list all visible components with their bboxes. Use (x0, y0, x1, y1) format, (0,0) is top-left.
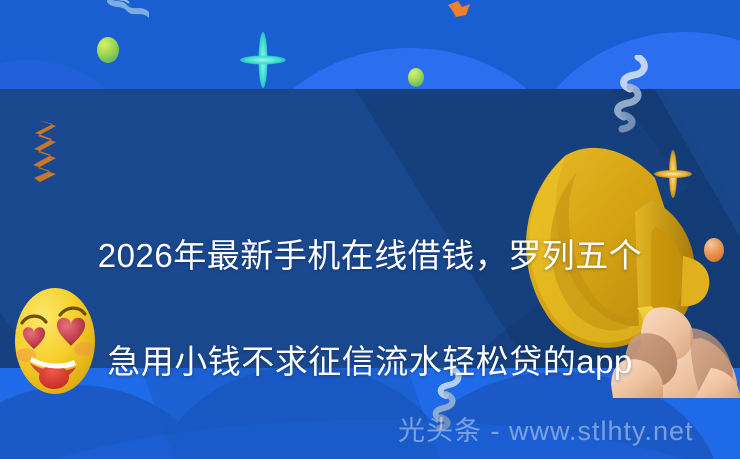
orange-zigzag-ribbon-icon (30, 118, 64, 184)
cover-headline: 2026年最新手机在线借钱，罗列五个 急用小钱不求征信流水轻松贷的app (0, 176, 740, 441)
headline-line-2: 急用小钱不求征信流水轻松贷的app (0, 335, 740, 388)
article-cover-banner: 2026年最新手机在线借钱，罗列五个 急用小钱不求征信流水轻松贷的app 光头条… (0, 0, 740, 459)
green-sphere-small-icon (408, 68, 424, 87)
silver-spiral-top-icon (608, 55, 650, 133)
site-watermark: 光头条 - www.stlhty.net (398, 409, 694, 448)
orange-confetti-icon (448, 1, 470, 17)
green-sphere-icon (97, 37, 119, 63)
headline-line-1: 2026年最新手机在线借钱，罗列五个 (0, 229, 740, 282)
cyan-sparkle-icon (240, 32, 286, 88)
blue-ribbon-icon (105, 0, 151, 20)
